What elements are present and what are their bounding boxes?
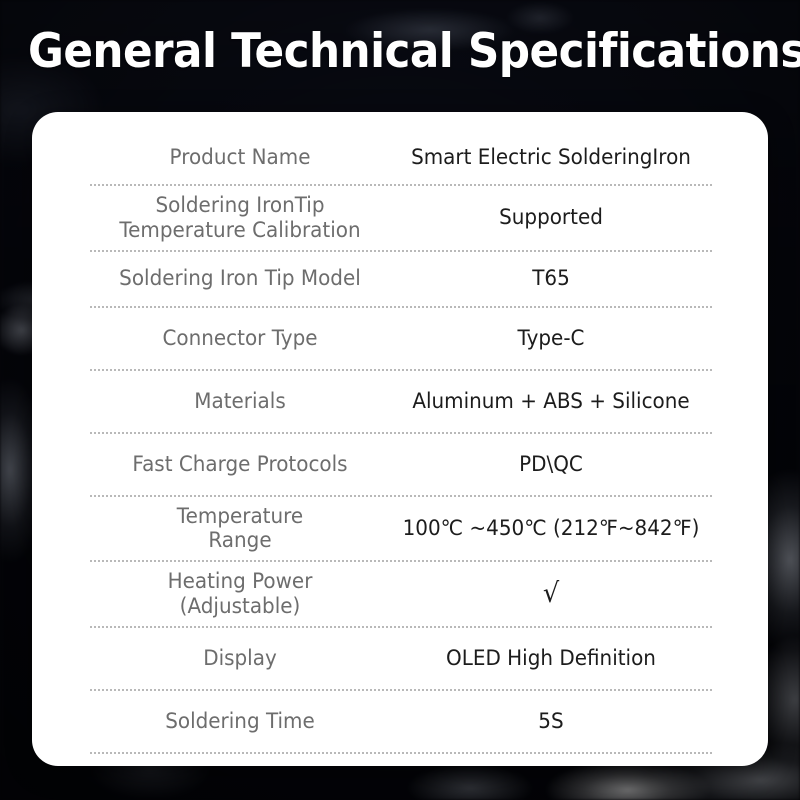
spec-label: Display xyxy=(98,639,383,678)
spec-value: 5S xyxy=(398,702,704,741)
spec-label: Soldering IronTip Temperature Calibratio… xyxy=(98,186,383,250)
table-row: Connector Type Type-C xyxy=(90,308,712,371)
spec-label: Fast Charge Protocols xyxy=(98,445,383,484)
specifications-card: Product Name Smart Electric SolderingIro… xyxy=(32,112,768,766)
spec-value: Supported xyxy=(398,198,704,237)
spec-label: Temperature Range xyxy=(98,497,383,561)
spec-label: Product Name xyxy=(98,138,383,177)
spec-value: PD\QC xyxy=(398,445,704,484)
spec-value: Smart Electric SolderingIron xyxy=(398,138,704,177)
table-row: Soldering Time 5S xyxy=(90,691,712,754)
table-row: Display OLED High Definition xyxy=(90,628,712,691)
table-row: Heating Power (Adjustable) √ xyxy=(90,562,712,628)
spec-label: Connector Type xyxy=(98,319,383,358)
spec-label: Soldering Iron Tip Model xyxy=(98,259,383,298)
table-row: Materials Aluminum + ABS + Silicone xyxy=(90,371,712,434)
spec-value: T65 xyxy=(398,259,704,298)
spec-value: Type-C xyxy=(398,319,704,358)
table-row: Soldering IronTip Temperature Calibratio… xyxy=(90,186,712,252)
table-row: Temperature Range 100℃ ~450℃ (212℉~842℉) xyxy=(90,497,712,563)
spec-label: Soldering Time xyxy=(98,702,383,741)
specifications-table: Product Name Smart Electric SolderingIro… xyxy=(90,130,712,754)
table-row: Product Name Smart Electric SolderingIro… xyxy=(90,130,712,186)
table-row: Fast Charge Protocols PD\QC xyxy=(90,434,712,497)
page-title: General Technical Specifications xyxy=(28,24,772,79)
spec-value: 100℃ ~450℃ (212℉~842℉) xyxy=(398,509,704,548)
spec-value: Aluminum + ABS + Silicone xyxy=(398,382,704,421)
table-row: Soldering Iron Tip Model T65 xyxy=(90,252,712,308)
spec-value: OLED High Definition xyxy=(398,639,704,678)
product-spec-screen: General Technical Specifications Product… xyxy=(0,0,800,800)
spec-label: Materials xyxy=(98,382,383,421)
checkmark-icon: √ xyxy=(398,571,704,617)
spec-label: Heating Power (Adjustable) xyxy=(98,562,383,626)
